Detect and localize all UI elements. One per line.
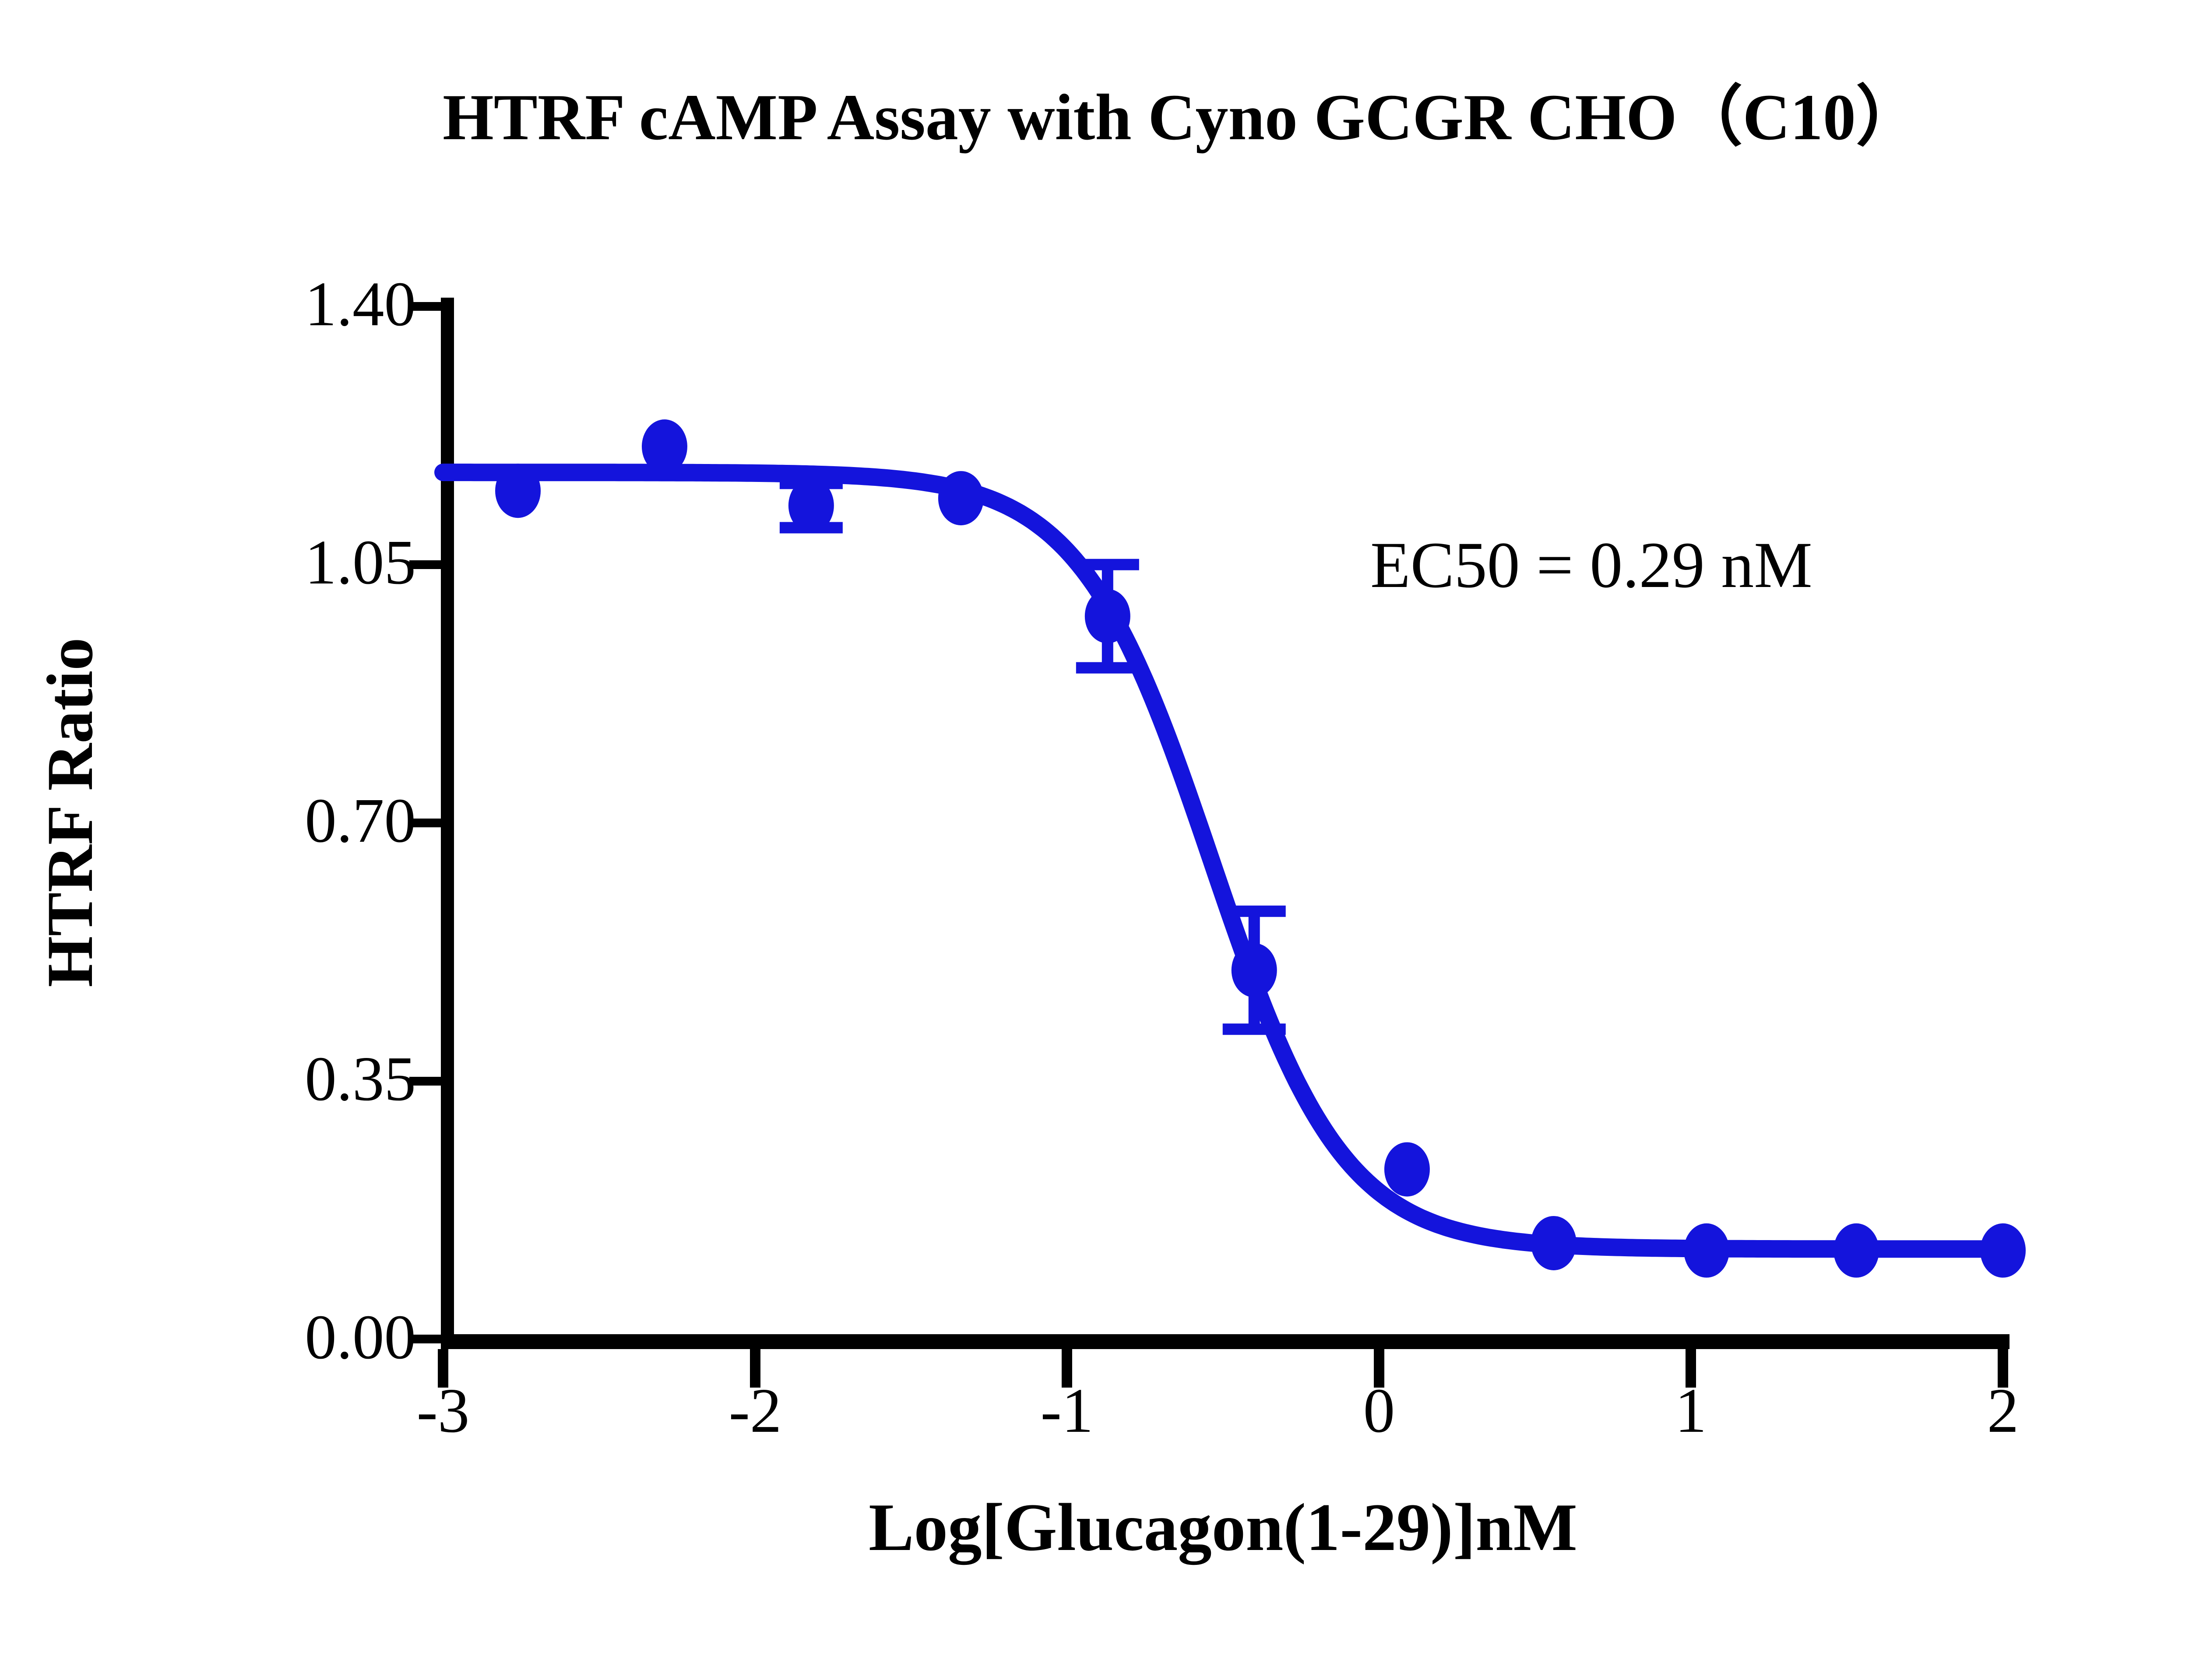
data-point[interactable]: [938, 471, 984, 525]
figure-canvas: HTRF cAMP Assay with Cyno GCGR CHO（C10） …: [0, 0, 2189, 1680]
data-point[interactable]: [1980, 1223, 2026, 1278]
fit-curve: [443, 472, 2003, 1249]
data-point[interactable]: [642, 419, 687, 474]
data-point[interactable]: [1834, 1223, 1879, 1278]
data-series-group: [443, 419, 2026, 1278]
data-point[interactable]: [788, 478, 834, 533]
data-point[interactable]: [1384, 1142, 1430, 1196]
data-point[interactable]: [1684, 1223, 1729, 1278]
data-point[interactable]: [1232, 943, 1277, 998]
data-point[interactable]: [1085, 589, 1130, 643]
data-point[interactable]: [1531, 1216, 1577, 1270]
plot-area: [0, 0, 2189, 1680]
x-axis-ticks: [443, 1349, 2003, 1388]
data-point[interactable]: [495, 464, 541, 518]
